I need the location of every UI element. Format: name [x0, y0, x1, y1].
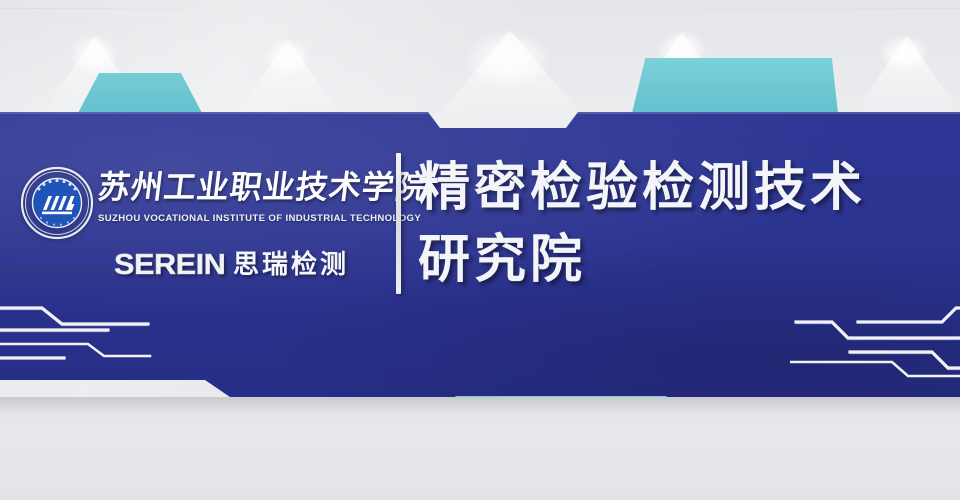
signage-scene: 苏州工业职业技术学院 SUZHOU VOCATIONAL INSTITUTE O… — [0, 0, 960, 500]
brand-row: SEREIN 思瑞检测 — [114, 248, 349, 282]
vertical-divider — [396, 153, 401, 294]
institute-title-line2: 研究院 — [418, 224, 948, 296]
university-name-cn: 苏州工业职业技术学院 — [95, 166, 396, 208]
university-crest-icon — [20, 166, 94, 240]
institute-title: 精密检验检测技术 研究院 — [418, 152, 948, 296]
brand-latin-name: SEREIN — [114, 248, 225, 282]
teal-trapezoid-right — [632, 58, 838, 113]
university-name-en: SUZHOU VOCATIONAL INSTITUTE OF INDUSTRIA… — [98, 212, 398, 225]
institute-title-line1: 精密检验检测技术 — [418, 152, 948, 224]
teal-trapezoid-left — [78, 73, 202, 113]
brand-name-cn: 思瑞检测 — [233, 248, 349, 282]
lobby-floor — [0, 397, 960, 500]
floor-shadow — [0, 397, 960, 413]
ceiling-seam — [0, 8, 960, 9]
institution-logo-block: 苏州工业职业技术学院 SUZHOU VOCATIONAL INSTITUTE O… — [14, 160, 394, 285]
